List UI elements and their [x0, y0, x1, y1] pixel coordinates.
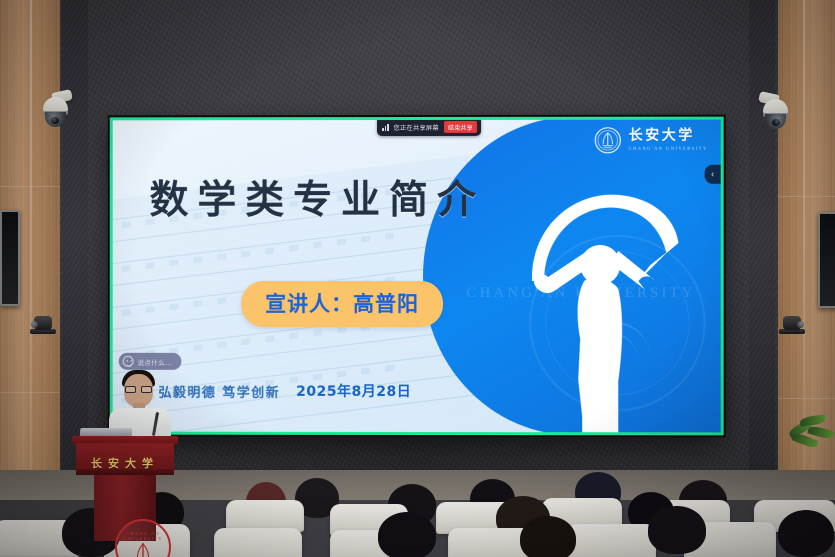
share-status-text: 您正在共享屏幕 [394, 122, 439, 131]
podium-stem: CHANG AN UNIVERSITY [94, 475, 156, 541]
slide-title: 数学类专业简介 [150, 169, 486, 225]
university-name-cn: 长安大学 [629, 129, 708, 143]
glasses-icon [125, 386, 152, 393]
wall-spotlight-icon [30, 312, 56, 334]
podium-face: 长安大学 [76, 443, 174, 470]
university-logo: 长安大学 CHANG'AN UNIVERSITY [595, 127, 708, 154]
chevron-left-icon[interactable]: ‹ [705, 165, 721, 184]
stop-sharing-button[interactable]: 结束共享 [444, 121, 477, 133]
wall-display-panel-icon [818, 212, 835, 308]
speaker-name-badge: 宣讲人：高普阳 [241, 281, 443, 327]
chat-placeholder-text: 说点什么... [138, 356, 173, 366]
smiley-face-icon [123, 356, 134, 367]
dome-security-camera-icon [40, 88, 74, 128]
podium-seal-mark [132, 541, 154, 557]
projection-screen[interactable]: CHANG'AN UNIVERSITY 长安大学 CHANG'AN UNIVER… [110, 117, 724, 436]
audience-head [520, 516, 576, 557]
audience-head [778, 510, 834, 557]
chat-input-pill[interactable]: 说点什么... [119, 353, 182, 370]
changan-university-emblem-icon [595, 127, 622, 154]
wall-spotlight-icon [779, 312, 805, 334]
podium-seal-text: CHANG AN UNIVERSITY [117, 531, 169, 541]
dome-security-camera-icon [757, 90, 791, 130]
screen-share-banner: 您正在共享屏幕 结束共享 [377, 119, 481, 136]
potted-plant-icon [786, 408, 835, 452]
athlete-silhouette-icon [514, 169, 689, 436]
university-seal-icon: CHANG AN UNIVERSITY [115, 519, 171, 557]
slide-date: 2025年8月28日 [296, 381, 411, 401]
podium: 长安大学 CHANG AN UNIVERSITY [72, 436, 178, 541]
audience-seat [566, 524, 656, 557]
audience-head [648, 506, 706, 554]
wall-display-panel-icon [0, 210, 20, 306]
lecture-hall-scene: CHANG'AN UNIVERSITY 长安大学 CHANG'AN UNIVER… [0, 0, 835, 557]
signal-bars-icon [382, 124, 388, 131]
audience-seat [214, 528, 302, 557]
right-stone-column [749, 0, 775, 470]
university-name-en: CHANG'AN UNIVERSITY [629, 147, 708, 151]
left-stone-column [62, 0, 88, 470]
audience-head [378, 512, 436, 557]
